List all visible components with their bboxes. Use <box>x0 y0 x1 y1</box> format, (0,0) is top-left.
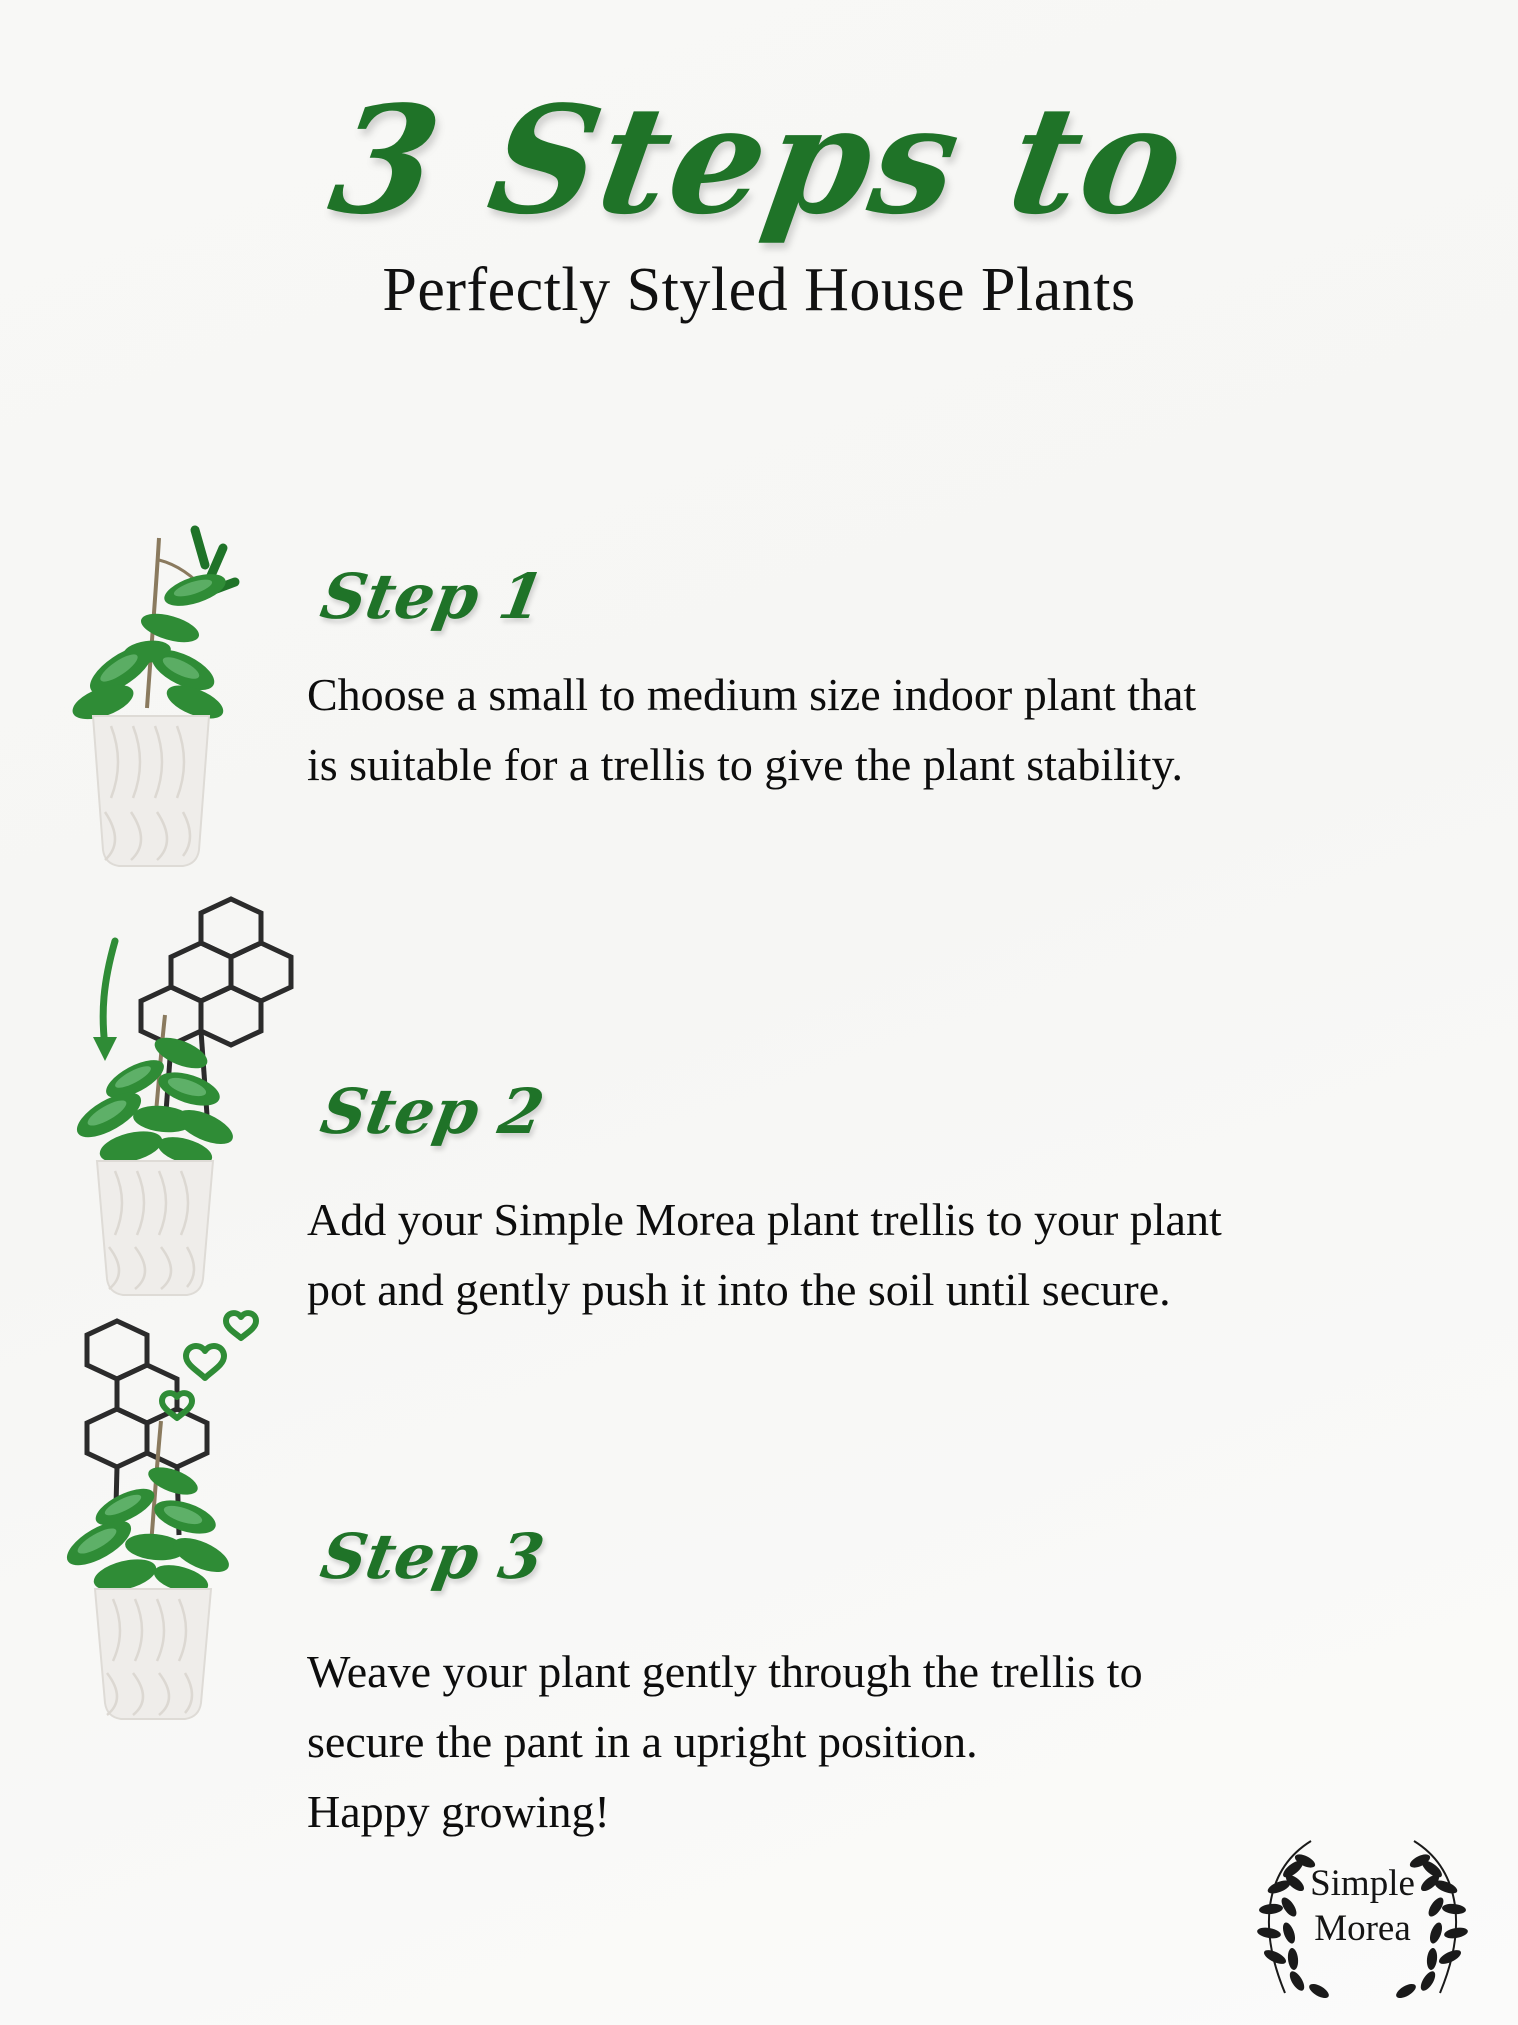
step-2-body: Add your Simple Morea plant trellis to y… <box>307 1185 1507 1325</box>
step-1-illustration <box>55 520 305 890</box>
page-subtitle: Perfectly Styled House Plants <box>0 256 1518 324</box>
potted-plant-trellis-arrow-icon <box>55 875 305 1305</box>
brand-logo: Simple Morea <box>1235 1835 1490 2010</box>
step-1-line-2: is suitable for a trellis to give the pl… <box>307 730 1507 800</box>
potted-plant-trellis-hearts-icon <box>55 1295 305 1725</box>
potted-plant-sparkles-icon <box>55 520 305 890</box>
step-2-illustration <box>55 875 305 1305</box>
step-3-label: Step 3 <box>316 1520 550 1593</box>
step-1-line-1: Choose a small to medium size indoor pla… <box>307 660 1507 730</box>
step-3-line-2: secure the pant in a upright position. <box>307 1707 1507 1777</box>
header: 3 Steps to Perfectly Styled House Plants <box>0 86 1518 324</box>
logo-line-2: Morea <box>1235 1906 1490 1951</box>
infographic-page: 3 Steps to Perfectly Styled House Plants <box>0 0 1518 2025</box>
step-2-label: Step 2 <box>316 1075 550 1148</box>
step-3-body: Weave your plant gently through the trel… <box>307 1637 1507 1847</box>
step-2-line-2: pot and gently push it into the soil unt… <box>307 1255 1507 1325</box>
step-3-line-1: Weave your plant gently through the trel… <box>307 1637 1507 1707</box>
step-1-body: Choose a small to medium size indoor pla… <box>307 660 1507 800</box>
page-title: 3 Steps to <box>323 86 1196 234</box>
logo-line-1: Simple <box>1235 1861 1490 1906</box>
step-3-illustration <box>55 1295 305 1725</box>
logo-wordmark: Simple Morea <box>1235 1861 1490 1951</box>
step-1-label: Step 1 <box>316 560 550 633</box>
step-2-line-1: Add your Simple Morea plant trellis to y… <box>307 1185 1507 1255</box>
